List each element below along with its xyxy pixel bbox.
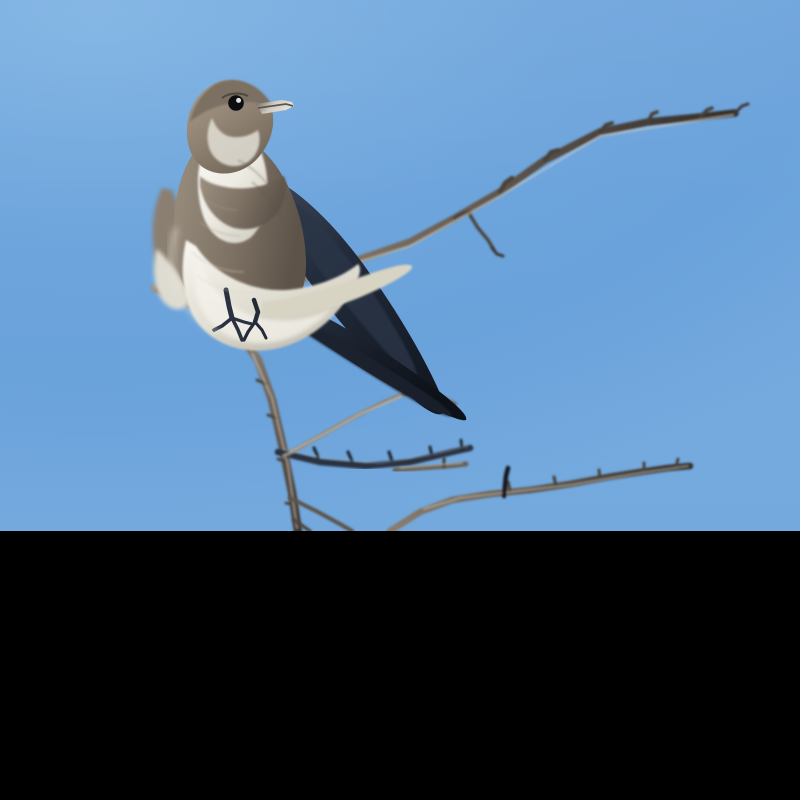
species-label-panel: Golondrina parda Brown-chested Martin Pr… xyxy=(0,531,800,731)
bird-eye xyxy=(228,95,244,111)
branch-bottom-right xyxy=(390,459,690,531)
branch-upper-right xyxy=(300,104,748,280)
bird-eye-glint xyxy=(236,98,241,103)
photo-vector-content xyxy=(0,0,800,531)
bird-photograph xyxy=(0,0,800,531)
bird-body xyxy=(153,80,467,420)
bird-photo-card: Golondrina parda Brown-chested Martin Pr… xyxy=(0,0,800,800)
footer-metadata-bar: Golondrina parda — Progne tapera Fotógra… xyxy=(0,731,800,800)
